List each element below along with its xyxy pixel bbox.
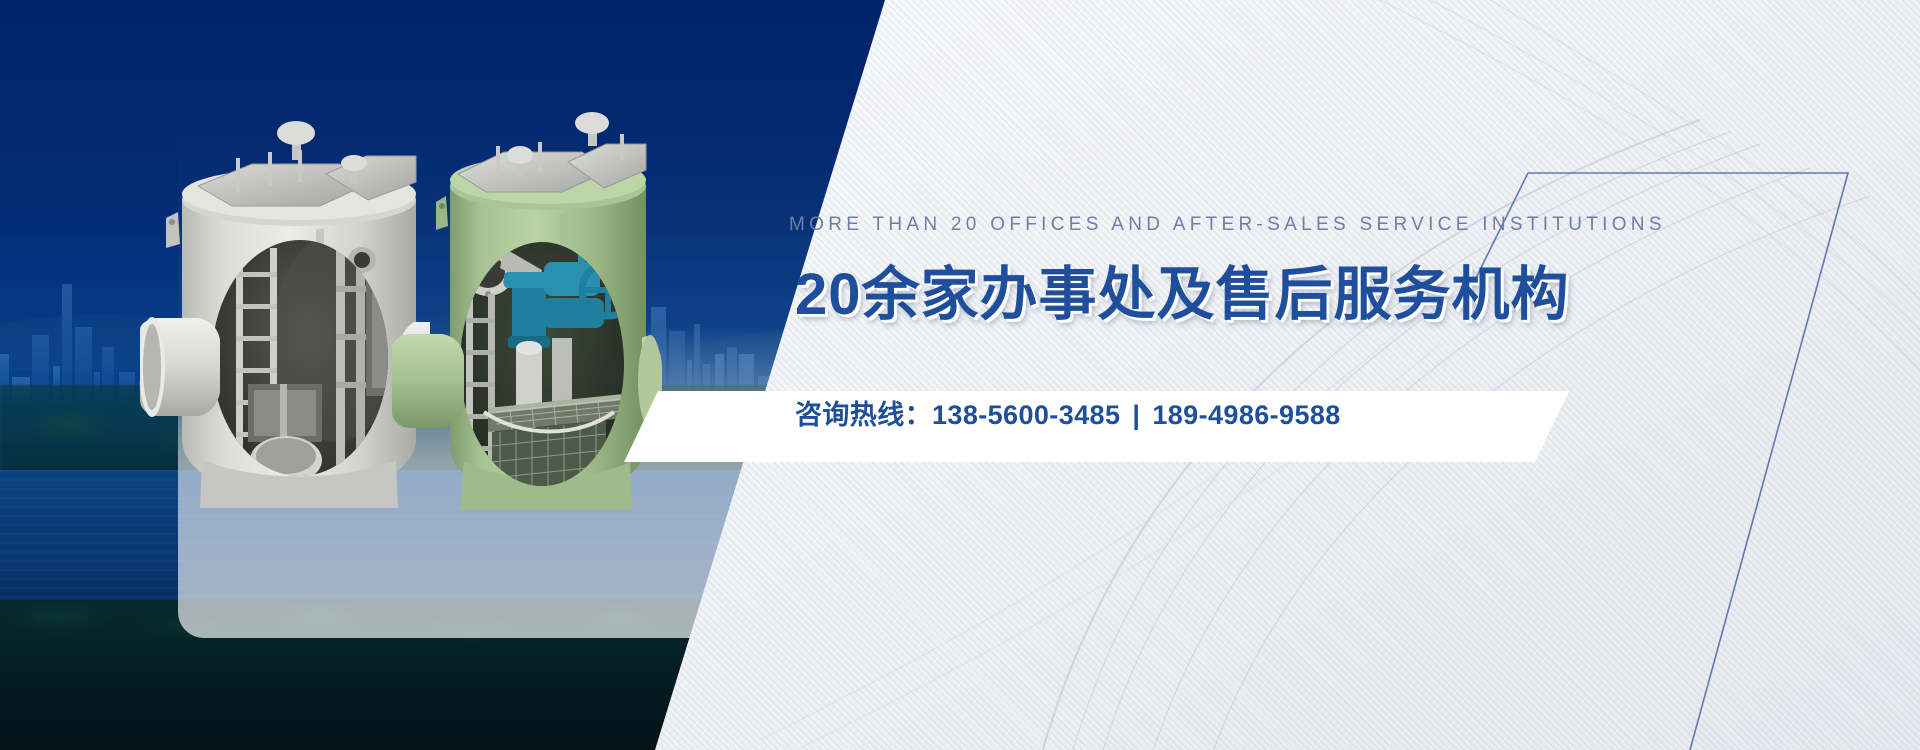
product-grey-pump-station — [140, 108, 430, 518]
eyebrow-english-subtitle: MORE THAN 20 OFFICES AND AFTER-SALES SER… — [789, 214, 1666, 236]
promo-banner: MORE THAN 20 OFFICES AND AFTER-SALES SER… — [0, 0, 1920, 750]
product-green-pump-station — [392, 112, 662, 518]
hotline-line: 咨询热线：138-5600-3485|189-4986-9588 — [795, 393, 1341, 432]
hotline-secondary-number[interactable]: 189-4986-9588 — [1152, 400, 1340, 430]
green-inlet-pipe — [392, 334, 464, 428]
hotline-label: 咨询热线： — [795, 400, 932, 430]
hotline-separator: | — [1120, 400, 1152, 430]
page-title: 20余家办事处及售后服务机构 — [795, 247, 1570, 331]
grey-inlet-pipe — [140, 317, 220, 417]
hotline-primary-number[interactable]: 138-5600-3485 — [932, 400, 1120, 430]
